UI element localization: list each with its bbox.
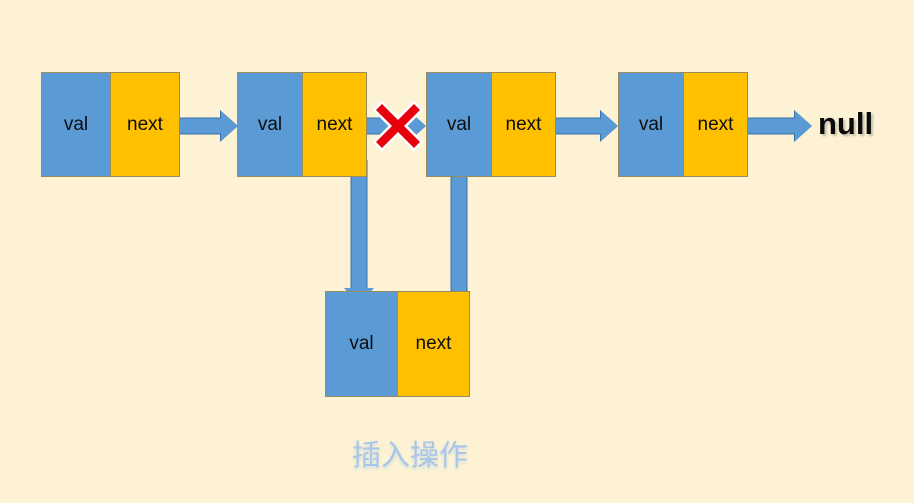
arrow-node4-to-null xyxy=(746,110,812,142)
arrow-head xyxy=(795,111,812,141)
arrow-node1-to-node2 xyxy=(178,110,238,142)
node-2-val-label: val xyxy=(258,114,282,136)
list-node-1[interactable]: val next xyxy=(41,72,180,177)
arrow-shaft xyxy=(178,118,222,135)
arrow-head xyxy=(601,111,618,141)
node-3-val-cell: val xyxy=(427,73,491,176)
diagram-caption: 插入操作 xyxy=(352,432,468,474)
arrow-node3-to-node4 xyxy=(556,110,618,142)
arrow-head xyxy=(221,111,238,141)
node-inserted-next-label: next xyxy=(416,333,452,355)
node-3-next-cell: next xyxy=(491,73,555,176)
arrow-shaft xyxy=(556,118,602,135)
node-1-val-cell: val xyxy=(42,73,110,176)
node-inserted-val-label: val xyxy=(349,333,373,355)
list-node-4[interactable]: val next xyxy=(618,72,748,177)
node-inserted-val-cell: val xyxy=(326,292,397,396)
list-node-inserted[interactable]: val next xyxy=(325,291,470,397)
null-label: null xyxy=(818,106,873,142)
node-4-val-label: val xyxy=(639,114,663,136)
arrow-shaft xyxy=(746,118,796,135)
node-4-next-label: next xyxy=(698,114,734,136)
list-node-2[interactable]: val next xyxy=(237,72,367,177)
diagram-canvas: val next val next val next val next val xyxy=(0,0,914,503)
node-2-val-cell: val xyxy=(238,73,302,176)
node-inserted-next-cell: next xyxy=(397,292,469,396)
node-1-next-cell: next xyxy=(110,73,179,176)
node-1-next-label: next xyxy=(127,114,163,136)
arrow-shaft xyxy=(351,160,368,290)
arrow-node2-to-inserted xyxy=(342,160,376,305)
node-3-next-label: next xyxy=(506,114,542,136)
node-3-val-label: val xyxy=(447,114,471,136)
node-2-next-label: next xyxy=(317,114,353,136)
node-1-val-label: val xyxy=(64,114,88,136)
list-node-3[interactable]: val next xyxy=(426,72,556,177)
arrow-shaft xyxy=(451,175,468,305)
x-cross-icon xyxy=(372,100,424,152)
arrow-inserted-to-node3 xyxy=(442,160,476,305)
node-4-next-cell: next xyxy=(683,73,747,176)
node-4-val-cell: val xyxy=(619,73,683,176)
node-2-next-cell: next xyxy=(302,73,366,176)
